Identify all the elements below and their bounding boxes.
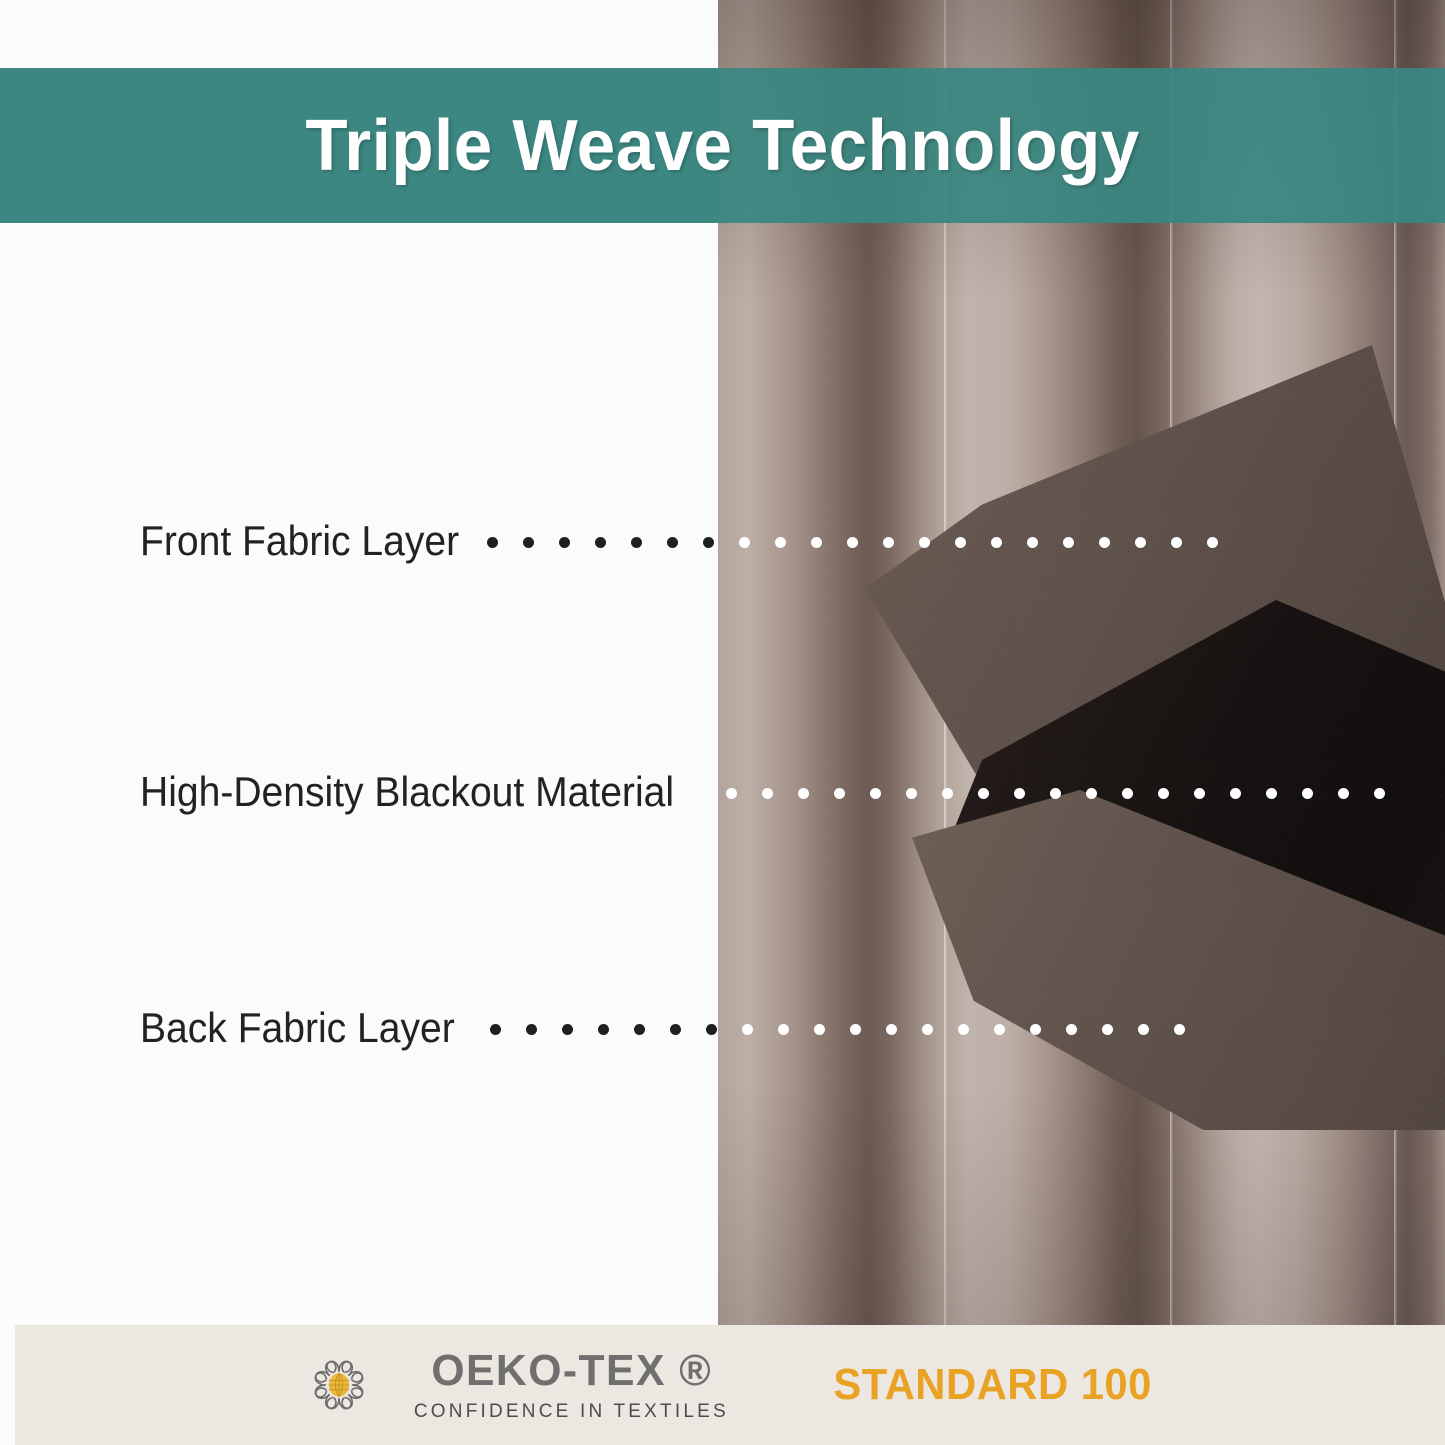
leader-dot bbox=[762, 788, 773, 799]
leader-dot bbox=[670, 1024, 681, 1035]
leader-dot bbox=[1174, 1024, 1185, 1035]
leader-dot bbox=[814, 1024, 825, 1035]
leader-dot bbox=[919, 537, 930, 548]
leader-dot bbox=[1102, 1024, 1113, 1035]
leader-dot bbox=[562, 1024, 573, 1035]
leader-dot bbox=[490, 1024, 501, 1035]
leader-dot bbox=[886, 1024, 897, 1035]
product-infographic: Triple Weave Technology Front Fabric Lay… bbox=[0, 0, 1445, 1445]
leader-dot bbox=[778, 1024, 789, 1035]
label-row-front-fabric-layer: Front Fabric Layer bbox=[140, 511, 483, 571]
leader-dot bbox=[559, 537, 570, 548]
leader-dot bbox=[739, 537, 750, 548]
leader-dot bbox=[1122, 788, 1133, 799]
oeko-tex-wordmark: OEKO-TEX ® CONFIDENCE IN TEXTILES bbox=[414, 1349, 729, 1421]
leader-dot bbox=[1302, 788, 1313, 799]
leader-dot bbox=[598, 1024, 609, 1035]
leader-dot bbox=[811, 537, 822, 548]
leader-dot bbox=[834, 788, 845, 799]
leader-dot bbox=[850, 1024, 861, 1035]
leader-dot bbox=[1138, 1024, 1149, 1035]
leader-dot bbox=[1027, 537, 1038, 548]
leader-dot bbox=[991, 537, 1002, 548]
leader-dot bbox=[847, 537, 858, 548]
leader-dot bbox=[526, 1024, 537, 1035]
leader-dot bbox=[1171, 537, 1182, 548]
certification-footer: OEKO-TEX ® CONFIDENCE IN TEXTILES STANDA… bbox=[15, 1325, 1445, 1445]
leader-dot bbox=[634, 1024, 645, 1035]
leader-dot bbox=[595, 537, 606, 548]
leader-dot bbox=[978, 788, 989, 799]
leader-dot bbox=[1338, 788, 1349, 799]
leader-dot bbox=[631, 537, 642, 548]
oeko-tex-badge: OEKO-TEX ® CONFIDENCE IN TEXTILES STANDA… bbox=[300, 1346, 1160, 1424]
leader-dot bbox=[994, 1024, 1005, 1035]
leader-dot bbox=[883, 537, 894, 548]
leader-dot bbox=[703, 537, 714, 548]
leader-dot bbox=[1374, 788, 1385, 799]
label-front-fabric-layer: Front Fabric Layer bbox=[140, 517, 459, 565]
leader-dot bbox=[1135, 537, 1146, 548]
leader-dot bbox=[1086, 788, 1097, 799]
page-title: Triple Weave Technology bbox=[305, 105, 1139, 187]
leader-dot bbox=[955, 537, 966, 548]
leader-dot bbox=[1158, 788, 1169, 799]
header-banner: Triple Weave Technology bbox=[0, 68, 1445, 223]
oeko-tex-brand-name: OEKO-TEX ® bbox=[431, 1349, 712, 1393]
leader-dot bbox=[1014, 788, 1025, 799]
leader-dot bbox=[487, 537, 498, 548]
leader-dot bbox=[1099, 537, 1110, 548]
label-back-fabric-layer: Back Fabric Layer bbox=[140, 1004, 455, 1052]
leader-dot bbox=[775, 537, 786, 548]
leader-dot bbox=[1207, 537, 1218, 548]
leader-dot bbox=[942, 788, 953, 799]
leader-dot bbox=[906, 788, 917, 799]
globe-icon bbox=[329, 1373, 349, 1396]
standard-100-label: STANDARD 100 bbox=[833, 1360, 1151, 1410]
label-row-high-density-blackout-material: High-Density Blackout Material bbox=[140, 762, 714, 822]
leader-dot bbox=[922, 1024, 933, 1035]
leader-dot bbox=[1050, 788, 1061, 799]
leader-line-front-fabric-layer bbox=[487, 535, 1243, 549]
leader-dot bbox=[742, 1024, 753, 1035]
leader-dot bbox=[870, 788, 881, 799]
leader-dot bbox=[523, 537, 534, 548]
leader-dot bbox=[958, 1024, 969, 1035]
leader-line-back-fabric-layer bbox=[490, 1022, 1210, 1036]
label-row-back-fabric-layer: Back Fabric Layer bbox=[140, 998, 478, 1058]
leader-dot bbox=[798, 788, 809, 799]
leader-dot bbox=[1266, 788, 1277, 799]
leader-dot bbox=[1030, 1024, 1041, 1035]
leader-dot bbox=[1066, 1024, 1077, 1035]
label-high-density-blackout-material: High-Density Blackout Material bbox=[140, 768, 674, 816]
leader-dot bbox=[726, 788, 737, 799]
leader-dot bbox=[706, 1024, 717, 1035]
oeko-tex-tagline: CONFIDENCE IN TEXTILES bbox=[414, 1402, 729, 1421]
leader-dot bbox=[1230, 788, 1241, 799]
leader-line-high-density-blackout-material bbox=[726, 786, 1410, 800]
oeko-tex-mandala-globe-icon bbox=[300, 1346, 378, 1424]
leader-dot bbox=[667, 537, 678, 548]
leader-dot bbox=[1063, 537, 1074, 548]
leader-dot bbox=[1194, 788, 1205, 799]
